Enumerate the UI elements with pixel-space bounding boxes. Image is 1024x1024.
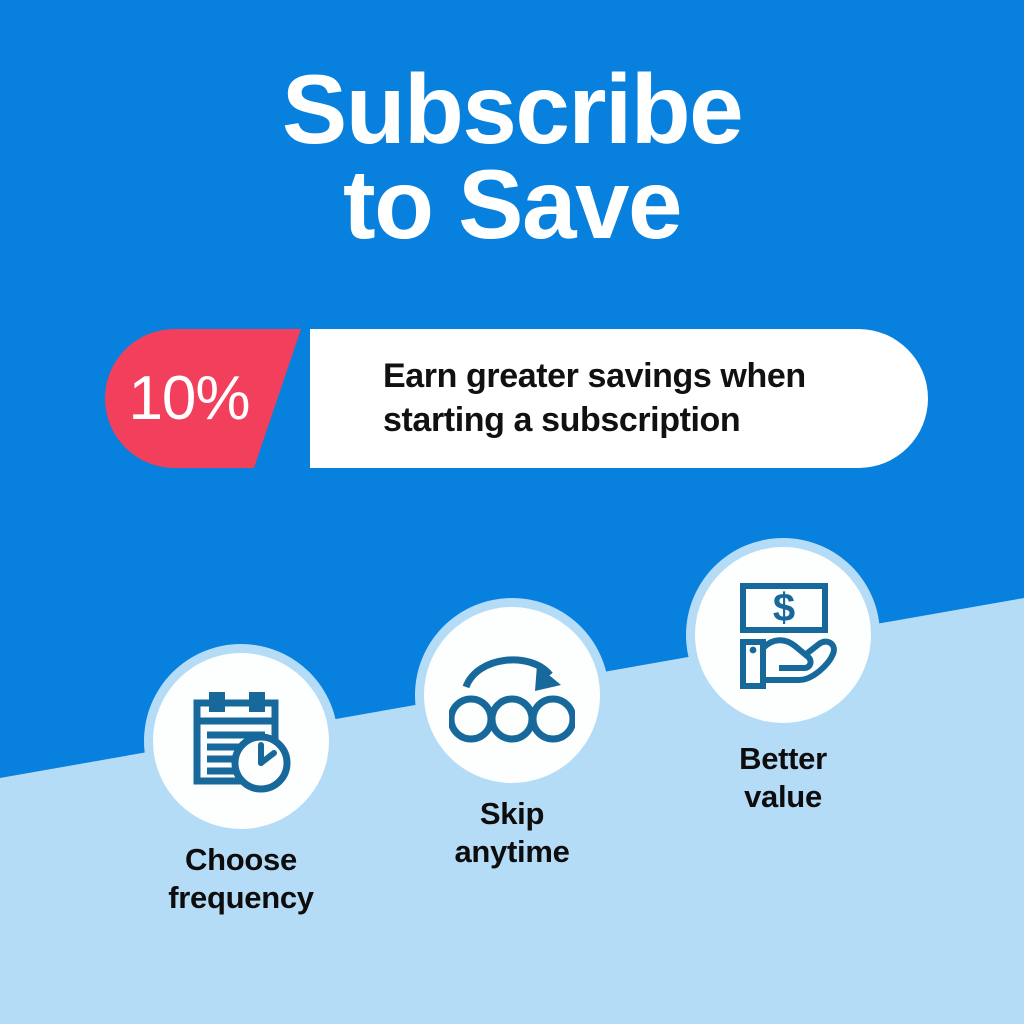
feature-label-2-line-2: anytime [362, 833, 662, 871]
discount-percent: 10% [105, 329, 273, 468]
feature-label-1-line-2: frequency [91, 879, 391, 917]
feature-label-2-line-1: Skip [362, 795, 662, 833]
feature-disc-1 [153, 653, 329, 829]
feature-label-1-line-1: Choose [91, 841, 391, 879]
page-title-line-2: to Save [0, 157, 1024, 252]
promo-banner-message: Earn greater savings when starting a sub… [383, 329, 943, 468]
svg-text:$: $ [773, 586, 795, 630]
promo-banner-message-line-2: starting a subscription [383, 399, 943, 443]
calendar-clock-icon [181, 681, 301, 801]
promo-banner[interactable]: 10% Earn greater savings when starting a… [105, 329, 928, 468]
feature-label-3-line-1: Better [633, 740, 933, 778]
feature-label-2: Skip anytime [362, 795, 662, 871]
page-title: Subscribe to Save [0, 62, 1024, 252]
feature-label-3-line-2: value [633, 778, 933, 816]
page-title-line-1: Subscribe [0, 62, 1024, 157]
feature-label-1: Choose frequency [91, 841, 391, 917]
feature-disc-3: $ [695, 547, 871, 723]
feature-label-3: Better value [633, 740, 933, 816]
subscribe-to-save-poster: Subscribe to Save 10% Earn greater savin… [0, 0, 1024, 1024]
promo-banner-message-line-1: Earn greater savings when [383, 355, 943, 399]
feature-disc-2 [424, 607, 600, 783]
hand-money-icon: $ [721, 576, 845, 694]
skip-arrow-icon [449, 639, 575, 751]
